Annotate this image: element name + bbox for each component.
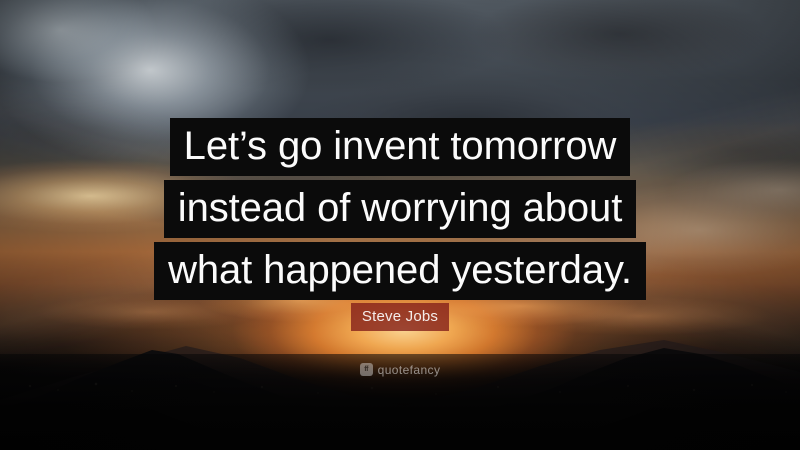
quote-line-3: what happened yesterday. xyxy=(154,242,646,300)
quote-block: Let’s go invent tomorrow instead of worr… xyxy=(0,118,800,300)
watermark: ff quotefancy xyxy=(0,363,800,376)
watermark-text: quotefancy xyxy=(378,364,441,376)
author-name: Steve Jobs xyxy=(351,303,449,331)
author-container: Steve Jobs xyxy=(0,303,800,331)
quote-line-2: instead of worrying about xyxy=(164,180,636,238)
quote-line-1: Let’s go invent tomorrow xyxy=(170,118,631,176)
quotefancy-logo-icon: ff xyxy=(360,363,373,376)
quote-poster: Let’s go invent tomorrow instead of worr… xyxy=(0,0,800,450)
